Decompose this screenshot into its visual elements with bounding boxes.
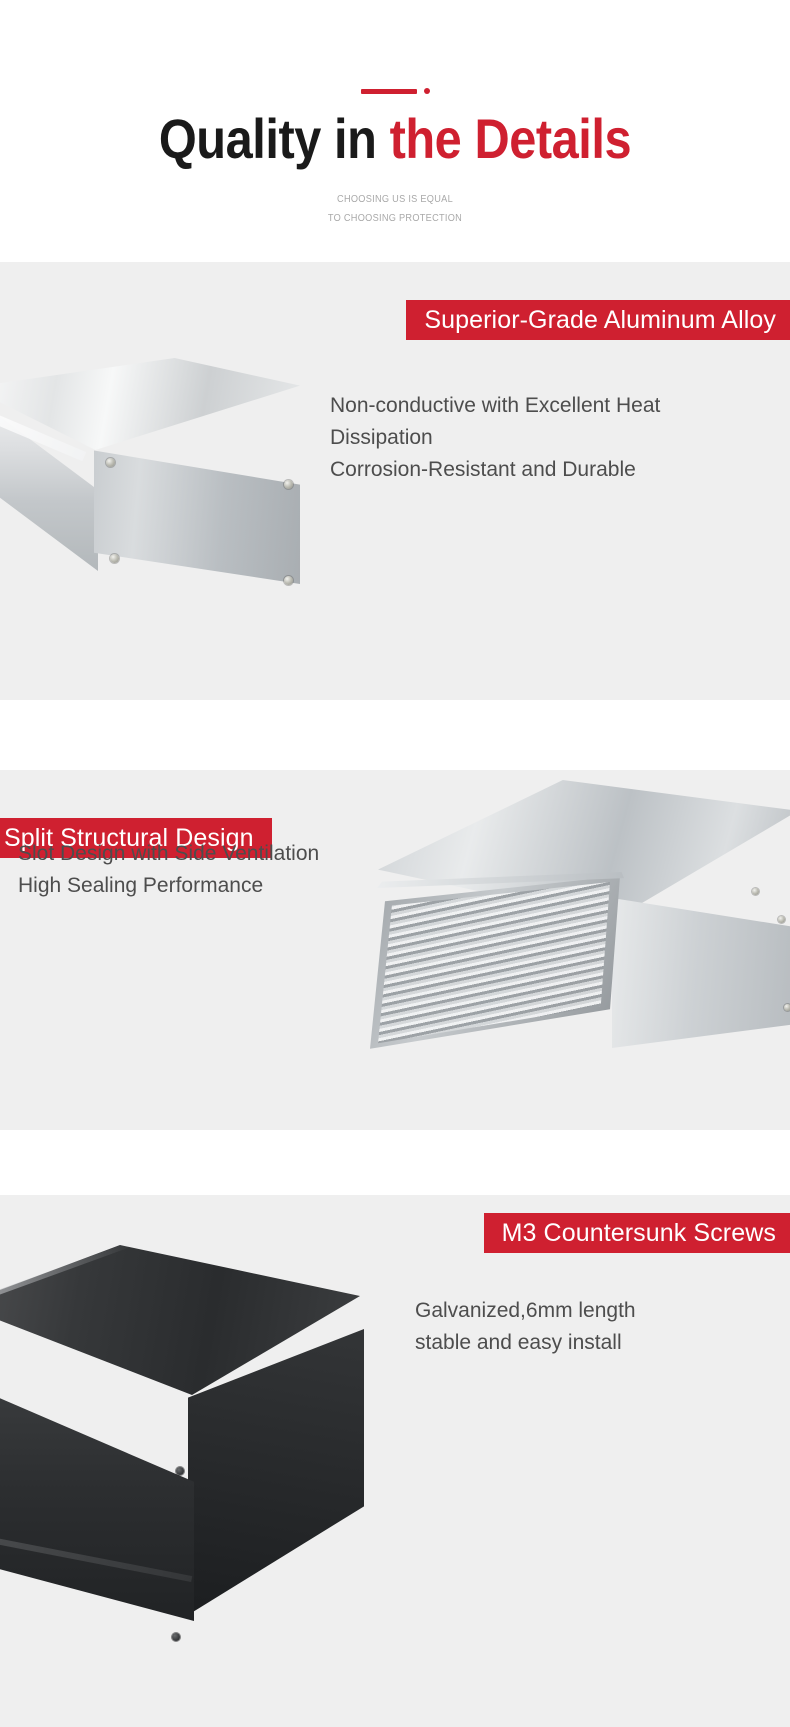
screw-icon bbox=[784, 1004, 790, 1011]
screw-icon bbox=[752, 888, 759, 895]
feature-section-aluminum-alloy: Superior-Grade Aluminum Alloy Non-conduc… bbox=[0, 262, 790, 700]
enclosure-front-face bbox=[0, 1381, 194, 1621]
screw-icon bbox=[176, 1467, 184, 1475]
page-title-dark: Quality in bbox=[159, 107, 390, 170]
page-header: Quality in the Details CHOOSING US IS EQ… bbox=[0, 0, 790, 262]
feature-description-line-1: Non-conductive with Excellent Heat bbox=[330, 390, 660, 422]
feature-description-line-1: Galvanized,6mm length bbox=[415, 1295, 636, 1327]
feature-description-split-structure: Slot Design with Side Ventilation High S… bbox=[18, 838, 319, 902]
enclosure-front-face bbox=[94, 442, 300, 584]
extrusion-side-face bbox=[612, 898, 790, 1048]
feature-description-line-3: Corrosion-Resistant and Durable bbox=[330, 454, 660, 486]
feature-section-split-structure: Split Structural Design Slot Design with… bbox=[0, 770, 790, 1130]
page-title: Quality in the Details bbox=[51, 104, 738, 174]
header-decoration bbox=[0, 86, 790, 96]
feature-section-countersunk-screws: M3 Countersunk Screws Galvanized,6mm len… bbox=[0, 1195, 790, 1727]
feature-description-line-1: Slot Design with Side Ventilation bbox=[18, 838, 319, 870]
page-subtitle-line-2: TO CHOOSING PROTECTION bbox=[32, 209, 759, 228]
feature-banner-aluminum-alloy: Superior-Grade Aluminum Alloy bbox=[406, 300, 790, 340]
dot-icon bbox=[424, 88, 430, 94]
feature-description-aluminum-alloy: Non-conductive with Excellent Heat Dissi… bbox=[330, 390, 660, 486]
product-photo-black-enclosure bbox=[0, 1245, 380, 1675]
product-detail-page: Quality in the Details CHOOSING US IS EQ… bbox=[0, 0, 790, 1727]
dash-icon bbox=[361, 89, 417, 94]
page-subtitle: CHOOSING US IS EQUAL TO CHOOSING PROTECT… bbox=[32, 190, 759, 228]
screw-icon bbox=[284, 576, 293, 585]
page-title-accent: the Details bbox=[390, 107, 632, 170]
screw-icon bbox=[778, 916, 785, 923]
feature-description-countersunk-screws: Galvanized,6mm length stable and easy in… bbox=[415, 1295, 636, 1359]
screw-icon bbox=[106, 458, 115, 467]
product-photo-open-extrusion bbox=[360, 780, 790, 1120]
page-subtitle-line-1: CHOOSING US IS EQUAL bbox=[32, 190, 759, 209]
feature-description-line-2: stable and easy install bbox=[415, 1327, 636, 1359]
feature-banner-countersunk-screws: M3 Countersunk Screws bbox=[484, 1213, 790, 1253]
feature-description-line-2: Dissipation bbox=[330, 422, 660, 454]
screw-icon bbox=[110, 554, 119, 563]
screw-icon bbox=[284, 480, 293, 489]
product-photo-silver-enclosure bbox=[0, 358, 330, 618]
feature-description-line-2: High Sealing Performance bbox=[18, 870, 319, 902]
screw-icon bbox=[172, 1633, 180, 1641]
